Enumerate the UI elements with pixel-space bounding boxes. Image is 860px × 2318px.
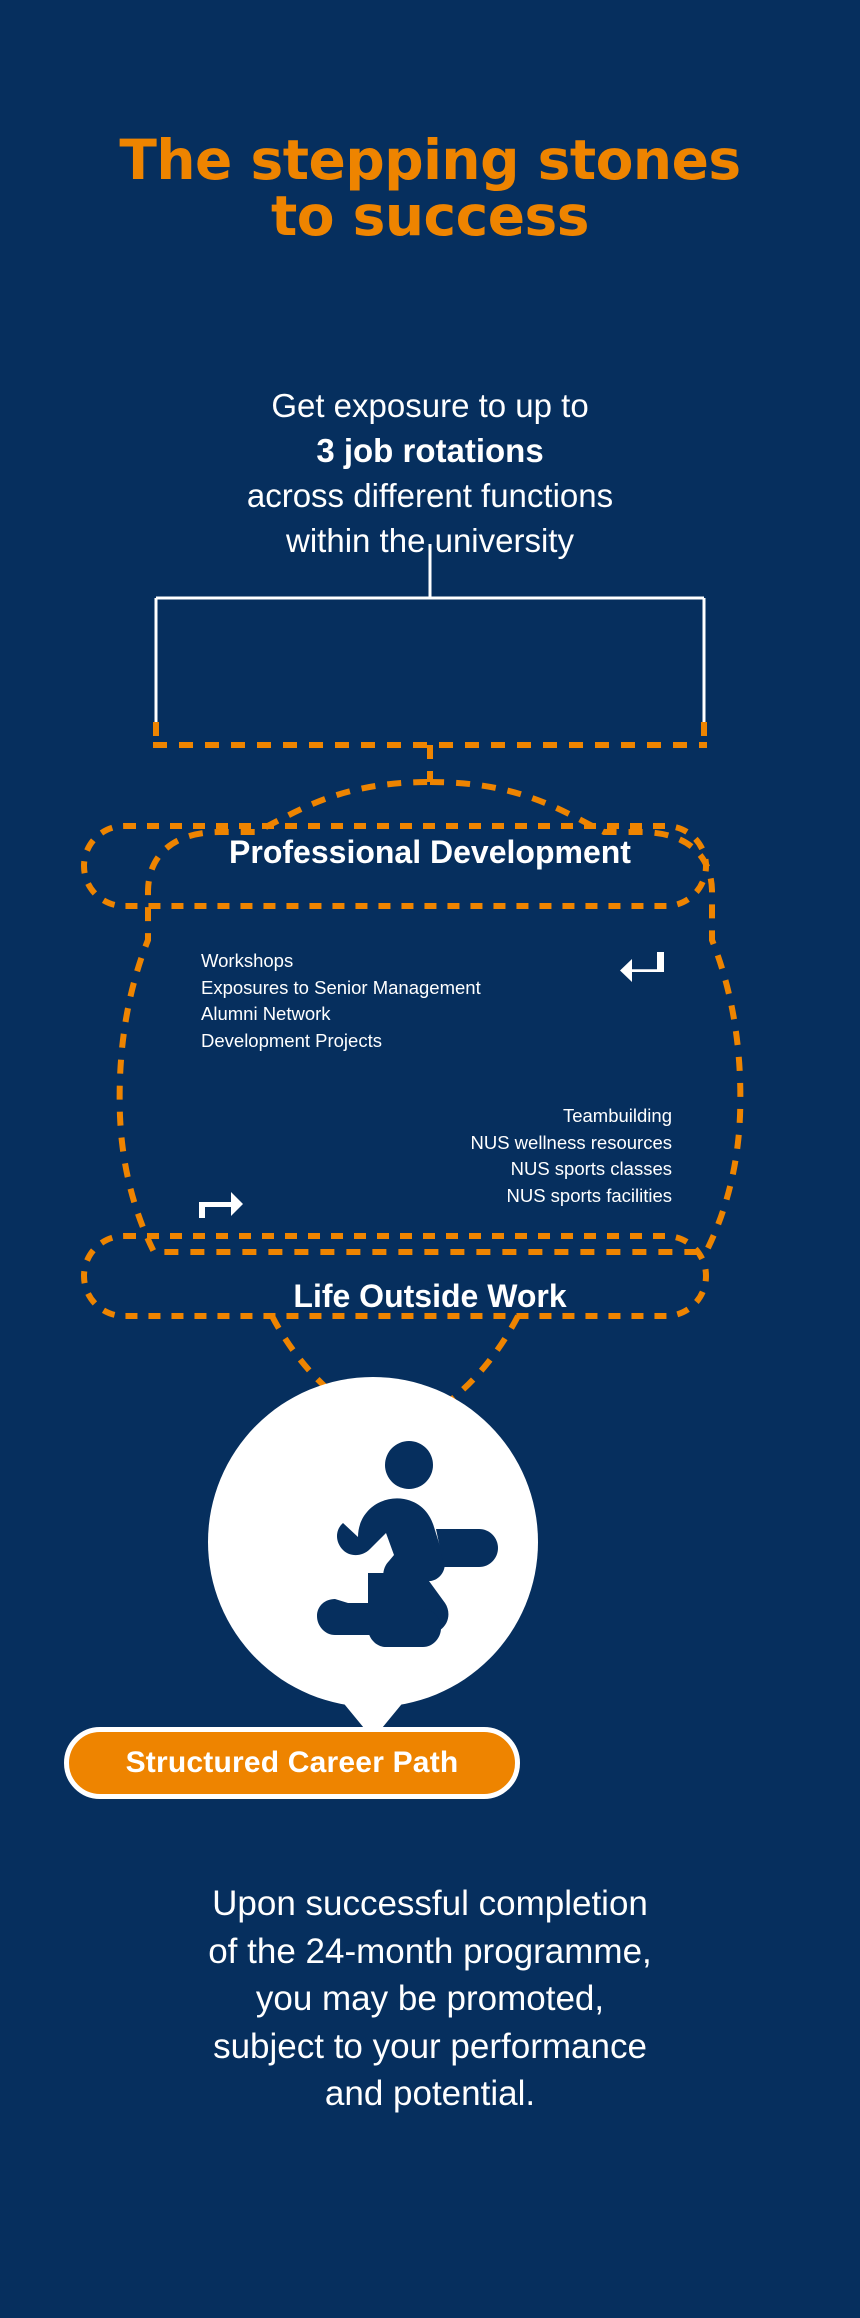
- list-item: Development Projects: [201, 1028, 481, 1055]
- white-bracket-connector: [156, 544, 704, 722]
- list-item: Workshops: [201, 948, 481, 975]
- orange-dashed-bracket: [153, 722, 707, 782]
- structured-career-path-label: Structured Career Path: [126, 1746, 459, 1780]
- professional-development-list: Workshops Exposures to Senior Management…: [201, 948, 481, 1055]
- section-heading-life-outside-work: Life Outside Work: [0, 1278, 860, 1315]
- footer-line-5: and potential.: [0, 2070, 860, 2118]
- intro-caption-line-3: within the university: [0, 519, 860, 564]
- list-item: Teambuilding: [240, 1103, 672, 1130]
- list-item: NUS sports classes: [240, 1156, 672, 1183]
- page-title-line-2: to success: [0, 188, 860, 244]
- footer-line-2: of the 24-month programme,: [0, 1928, 860, 1976]
- list-item: NUS wellness resources: [240, 1130, 672, 1157]
- list-item: NUS sports facilities: [240, 1183, 672, 1210]
- footer-line-4: subject to your performance: [0, 2023, 860, 2071]
- section-heading-professional-development: Professional Development: [0, 834, 860, 871]
- return-left-arrow-icon: [618, 950, 666, 993]
- infographic-canvas: The stepping stones to success Get expos…: [0, 0, 860, 2318]
- runner-badge: [208, 1377, 538, 1747]
- intro-caption-highlight: 3 job rotations: [316, 432, 543, 469]
- intro-caption-prefix: Get exposure to up to: [0, 384, 860, 429]
- footer-line-3: you may be promoted,: [0, 1975, 860, 2023]
- footer-note: Upon successful completion of the 24-mon…: [0, 1880, 860, 2118]
- list-item: Alumni Network: [201, 1001, 481, 1028]
- page-title-line-1: The stepping stones: [119, 128, 740, 192]
- list-item: Exposures to Senior Management: [201, 975, 481, 1002]
- forward-right-arrow-icon: [197, 1188, 245, 1227]
- intro-caption: Get exposure to up to 3 job rotations ac…: [0, 384, 860, 564]
- intro-caption-line-2: across different functions: [0, 474, 860, 519]
- structured-career-path-button[interactable]: Structured Career Path: [64, 1727, 520, 1799]
- intro-caption-line-1: Get exposure to up to 3 job rotations: [0, 384, 860, 474]
- page-title: The stepping stones to success: [0, 132, 860, 244]
- life-outside-work-list: Teambuilding NUS wellness resources NUS …: [240, 1103, 672, 1210]
- footer-line-1: Upon successful completion: [0, 1880, 860, 1928]
